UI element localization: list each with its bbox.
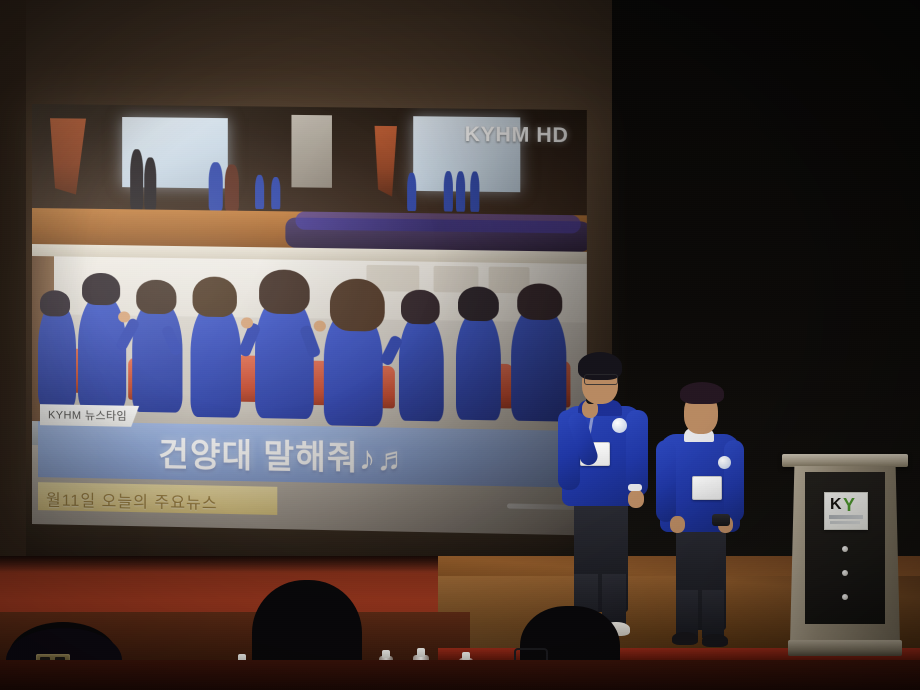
bottle-cap bbox=[462, 652, 470, 660]
stage-figure bbox=[444, 171, 453, 212]
crowd-student-hair bbox=[458, 286, 499, 321]
ky-logo-subtext-line2 bbox=[830, 521, 860, 524]
slide-panel-crowd-shot bbox=[32, 256, 587, 431]
lectern-top-surface bbox=[782, 454, 908, 467]
stage-figure bbox=[407, 173, 416, 211]
crowd-student bbox=[191, 302, 241, 417]
female-presenter-leg bbox=[676, 590, 698, 638]
slide-panel-stage-shot: KYHM HD bbox=[32, 104, 587, 264]
ky-logo-subtext-line1 bbox=[829, 515, 863, 519]
ky-logo-k: K bbox=[830, 497, 842, 513]
lectern-button[interactable] bbox=[842, 594, 848, 600]
stage-figure bbox=[130, 149, 143, 209]
headline-text: 건양대 말해줘♪♬ bbox=[158, 427, 411, 480]
female-presenter-sleeve bbox=[656, 440, 676, 522]
presentation-clicker[interactable] bbox=[712, 514, 730, 526]
stage-figure bbox=[144, 157, 156, 209]
projected-slide: KYHM HD bbox=[32, 104, 587, 535]
bottle-cap bbox=[382, 650, 390, 658]
crowd-student-hair bbox=[193, 276, 237, 317]
crowd-student-hair bbox=[136, 280, 176, 315]
crowd-hand bbox=[241, 317, 253, 328]
bottle-cap bbox=[417, 648, 425, 657]
auditorium-photo: KYHM HD bbox=[0, 0, 920, 690]
female-presenter-shoe bbox=[702, 634, 728, 647]
female-presenter bbox=[656, 372, 760, 660]
female-presenter-hand bbox=[670, 516, 685, 533]
headline-band: 건양대 말해줘♪♬ bbox=[38, 421, 585, 488]
foreground-shadow bbox=[0, 660, 920, 690]
crowd-student-hair bbox=[330, 278, 385, 331]
lectern-button[interactable] bbox=[842, 570, 848, 576]
crowd-student-hair bbox=[259, 269, 310, 314]
crowd-student bbox=[399, 314, 444, 422]
female-presenter-name-badge bbox=[692, 476, 722, 500]
broadcast-logo: KYHM HD bbox=[465, 123, 569, 148]
ticker-text: 월11일 오늘의 주요뉴스 bbox=[46, 486, 218, 513]
stage-figure bbox=[225, 164, 239, 210]
ky-logo-y: Y bbox=[843, 496, 855, 514]
female-presenter-sleeve bbox=[724, 440, 744, 522]
ticker-band: 월11일 오늘의 주요뉴스 bbox=[38, 482, 277, 515]
university-logo-plaque: K Y bbox=[824, 492, 868, 530]
male-presenter-wrist-watch bbox=[628, 484, 642, 491]
stage-figure bbox=[255, 175, 264, 209]
male-presenter-glasses bbox=[584, 374, 618, 385]
male-presenter-hoodie-crest bbox=[612, 418, 627, 433]
crowd-student bbox=[38, 302, 76, 408]
stage-figure bbox=[271, 177, 280, 209]
stage-panel-center bbox=[291, 115, 332, 188]
female-presenter-hoodie-crest bbox=[718, 456, 731, 469]
lectern: K Y bbox=[786, 454, 904, 659]
stage-figure bbox=[470, 171, 479, 212]
lectern-base bbox=[788, 640, 902, 656]
program-tag: KYHM 뉴스타임 bbox=[40, 404, 139, 427]
crowd-student bbox=[456, 311, 501, 421]
male-presenter-hand bbox=[628, 490, 644, 508]
female-presenter-shoe bbox=[672, 632, 698, 645]
crowd-hand bbox=[314, 320, 326, 331]
crowd-student-hair bbox=[40, 290, 70, 316]
crowd-student-hair bbox=[82, 273, 120, 306]
female-presenter-hair-front bbox=[680, 382, 724, 404]
lectern-button[interactable] bbox=[842, 546, 848, 552]
stage-figure bbox=[209, 162, 223, 210]
crowd-student bbox=[132, 300, 182, 413]
crowd-hand bbox=[118, 311, 130, 322]
crowd-student-hair bbox=[517, 283, 562, 320]
stage-figure bbox=[456, 171, 465, 212]
stage-audience-row bbox=[296, 211, 581, 233]
female-presenter-leg bbox=[702, 590, 724, 638]
crowd-student-hair bbox=[401, 290, 440, 325]
